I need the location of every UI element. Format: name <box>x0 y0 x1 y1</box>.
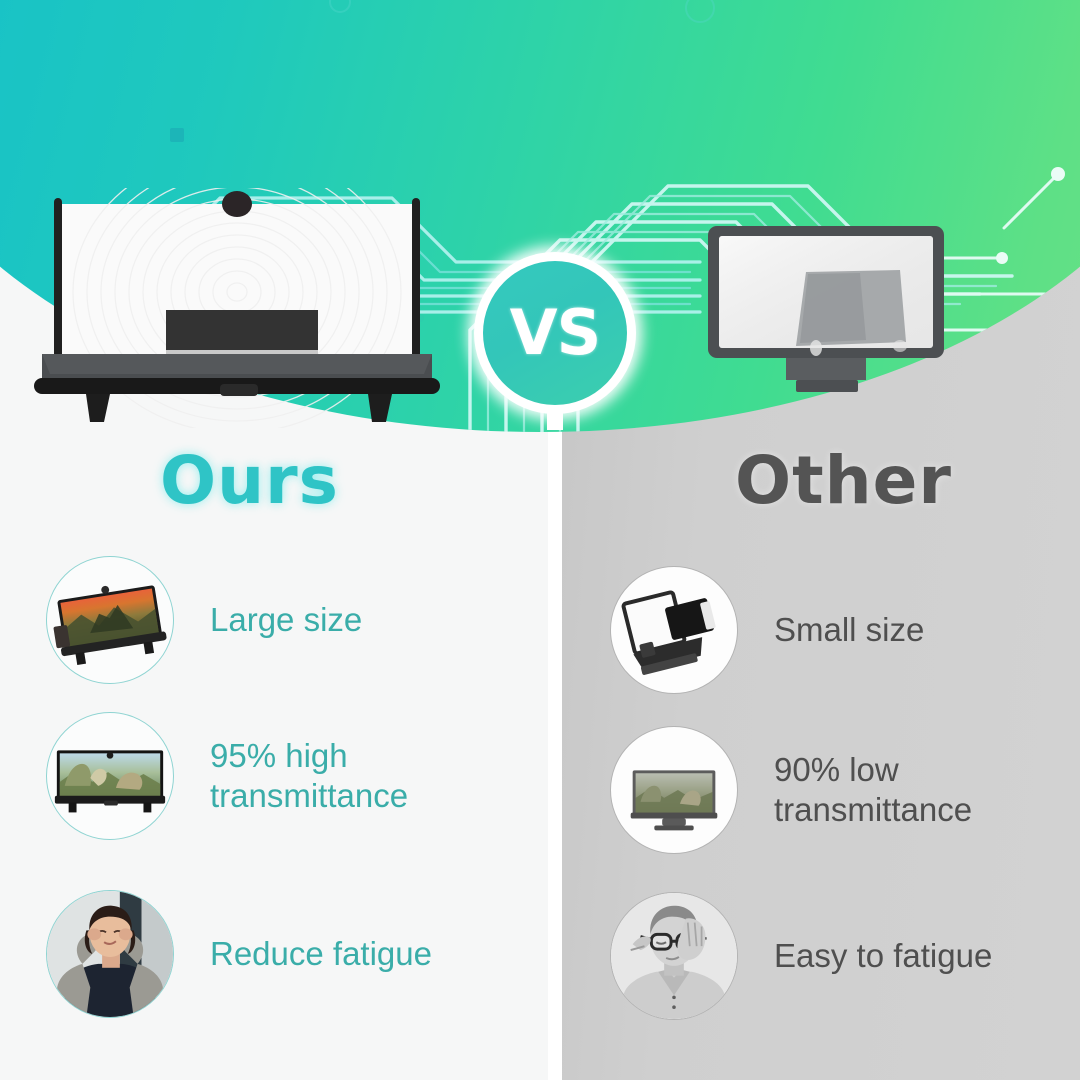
other-feature-label-2: 90% low transmittance <box>774 750 972 831</box>
tired-man-glasses-icon <box>610 892 738 1020</box>
dim-tv-screen-icon <box>610 726 738 854</box>
other-feature-transmittance: 90% low transmittance <box>610 726 972 854</box>
ours-product-image <box>24 188 450 428</box>
vs-badge-circle: VS <box>483 261 627 405</box>
magnifier-game-screen-icon <box>46 556 174 684</box>
ours-column-title: Ours <box>160 448 339 514</box>
vs-badge: VS <box>474 252 636 414</box>
relaxed-woman-icon <box>46 890 174 1018</box>
ours-feature-label-2: 95% high transmittance <box>210 736 408 817</box>
ours-feature-label-3: Reduce fatigue <box>210 934 432 974</box>
other-feature-easy-fatigue: Easy to fatigue <box>610 892 992 1020</box>
vs-badge-label: VS <box>510 302 601 364</box>
other-column-title: Other <box>735 448 952 514</box>
ours-feature-transmittance: 95% high transmittance <box>46 712 408 840</box>
other-feature-small-size: Small size <box>610 566 924 694</box>
ours-feature-large-size: Large size <box>46 556 362 684</box>
ours-feature-label-1: Large size <box>210 600 362 640</box>
small-magnifier-folded-icon <box>610 566 738 694</box>
other-product-image <box>700 222 952 394</box>
ours-feature-reduce-fatigue: Reduce fatigue <box>46 890 432 1018</box>
magnifier-dinosaur-screen-icon <box>46 712 174 840</box>
other-feature-label-3: Easy to fatigue <box>774 936 992 976</box>
other-feature-label-1: Small size <box>774 610 924 650</box>
infographic-canvas: VS Ours Other <box>0 0 1080 1080</box>
